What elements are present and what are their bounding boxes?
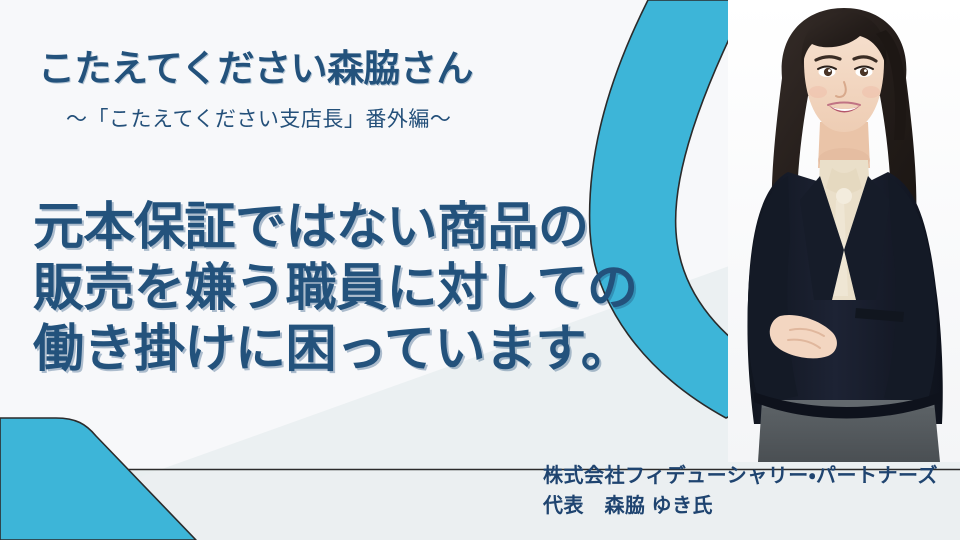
speaker-credit: 株式会社フィデューシャリー・パートナーズ 代表 森脇 ゆき氏 xyxy=(543,461,938,521)
headline: 元本保証ではない商品の 販売を嫌う職員に対しての 働き掛けに困っています。 xyxy=(33,196,637,379)
headline-line-2: 販売を嫌う職員に対しての xyxy=(33,257,637,318)
program-title: こたえてください森脇さん xyxy=(38,38,473,92)
program-subtitle: 〜「こたえてください支店長」番外編〜 xyxy=(66,103,451,133)
speaker-portrait-photo xyxy=(728,0,960,462)
credit-person: 代表 森脇 ゆき氏 xyxy=(543,491,938,521)
headline-line-3: 働き掛けに困っています。 xyxy=(33,318,637,379)
credit-company: 株式会社フィデューシャリー・パートナーズ xyxy=(543,461,938,491)
slide-canvas: こたえてください森脇さん 〜「こたえてください支店長」番外編〜 元本保証ではない… xyxy=(0,0,960,540)
headline-line-1: 元本保証ではない商品の xyxy=(33,196,637,257)
